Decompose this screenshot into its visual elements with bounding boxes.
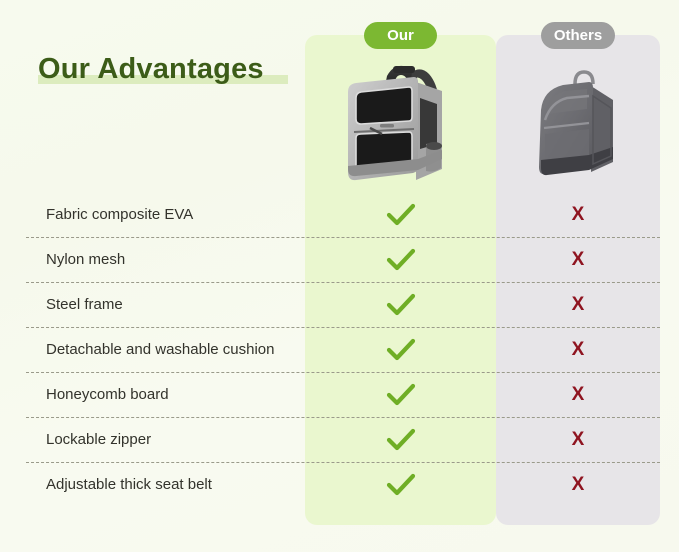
feature-label: Lockable zipper bbox=[46, 417, 151, 462]
feature-label: Steel frame bbox=[46, 282, 123, 327]
feature-label: Honeycomb board bbox=[46, 372, 169, 417]
check-icon bbox=[386, 428, 416, 452]
our-check-mark bbox=[305, 327, 496, 372]
our-check-mark bbox=[305, 192, 496, 237]
others-x-mark: X bbox=[496, 327, 660, 372]
check-icon bbox=[386, 473, 416, 497]
check-icon bbox=[386, 203, 416, 227]
others-x-mark: X bbox=[496, 282, 660, 327]
others-x-mark: X bbox=[496, 417, 660, 462]
our-check-mark bbox=[305, 282, 496, 327]
others-x-mark: X bbox=[496, 462, 660, 507]
feature-label: Nylon mesh bbox=[46, 237, 125, 282]
others-x-mark: X bbox=[496, 237, 660, 282]
check-icon bbox=[386, 293, 416, 317]
table-row: Fabric composite EVA X bbox=[0, 192, 679, 237]
our-check-mark bbox=[305, 417, 496, 462]
our-product-backpack-image bbox=[340, 58, 462, 184]
our-column-badge: Our bbox=[364, 22, 437, 49]
our-check-mark bbox=[305, 237, 496, 282]
our-check-mark bbox=[305, 462, 496, 507]
comparison-rows: Fabric composite EVA X Nylon mesh X Stee… bbox=[0, 192, 679, 507]
check-icon bbox=[386, 383, 416, 407]
table-row: Nylon mesh X bbox=[0, 237, 679, 282]
check-icon bbox=[386, 248, 416, 272]
table-row: Detachable and washable cushion X bbox=[0, 327, 679, 372]
feature-label: Detachable and washable cushion bbox=[46, 327, 275, 372]
others-x-mark: X bbox=[496, 372, 660, 417]
check-icon bbox=[386, 338, 416, 362]
others-x-mark: X bbox=[496, 192, 660, 237]
table-row: Lockable zipper X bbox=[0, 417, 679, 462]
others-column-badge: Others bbox=[541, 22, 615, 49]
page-title: Our Advantages bbox=[38, 53, 264, 86]
feature-label: Adjustable thick seat belt bbox=[46, 462, 212, 507]
table-row: Adjustable thick seat belt X bbox=[0, 462, 679, 507]
table-row: Steel frame X bbox=[0, 282, 679, 327]
our-check-mark bbox=[305, 372, 496, 417]
feature-label: Fabric composite EVA bbox=[46, 192, 193, 237]
table-row: Honeycomb board X bbox=[0, 372, 679, 417]
others-product-backpack-image bbox=[531, 62, 631, 184]
comparison-infographic: Our Advantages Our Others bbox=[0, 0, 679, 552]
